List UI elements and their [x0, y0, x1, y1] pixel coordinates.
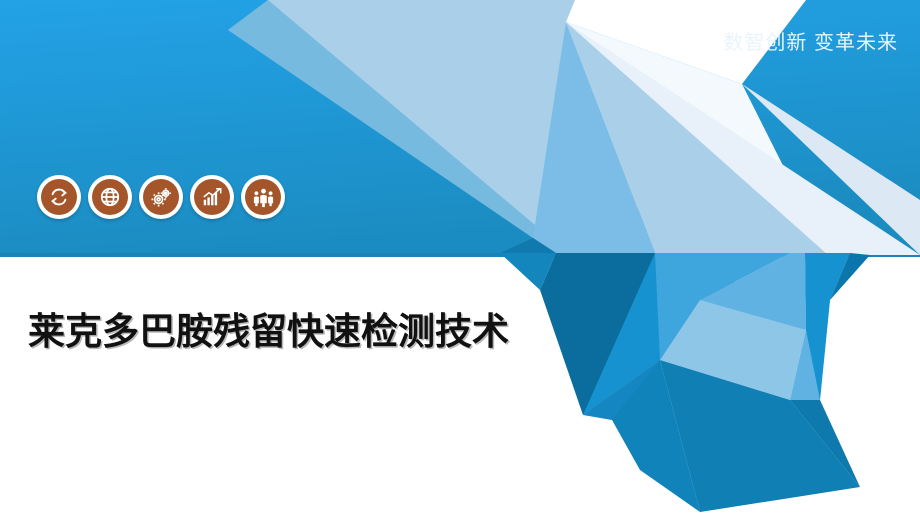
feature-icon-row: [37, 175, 285, 219]
page-title: 莱克多巴胺残留快速检测技术: [28, 306, 528, 359]
gears-icon: [143, 179, 179, 215]
globe-icon: [92, 179, 128, 215]
slide-tagline: 数智创新 变革未来: [723, 26, 898, 55]
icon-badge-people[interactable]: [241, 175, 285, 219]
icon-badge-bar-chart[interactable]: [190, 175, 234, 219]
geometric-background-artwork: [0, 0, 920, 518]
icon-badge-globe[interactable]: [88, 175, 132, 219]
icon-badge-gears[interactable]: [139, 175, 183, 219]
people-group-icon: [245, 179, 281, 215]
bar-chart-growth-icon: [194, 179, 230, 215]
presentation-slide: 数智创新 变革未来: [0, 0, 920, 518]
recycle-arrows-icon: [41, 179, 77, 215]
icon-badge-recycle[interactable]: [37, 175, 81, 219]
